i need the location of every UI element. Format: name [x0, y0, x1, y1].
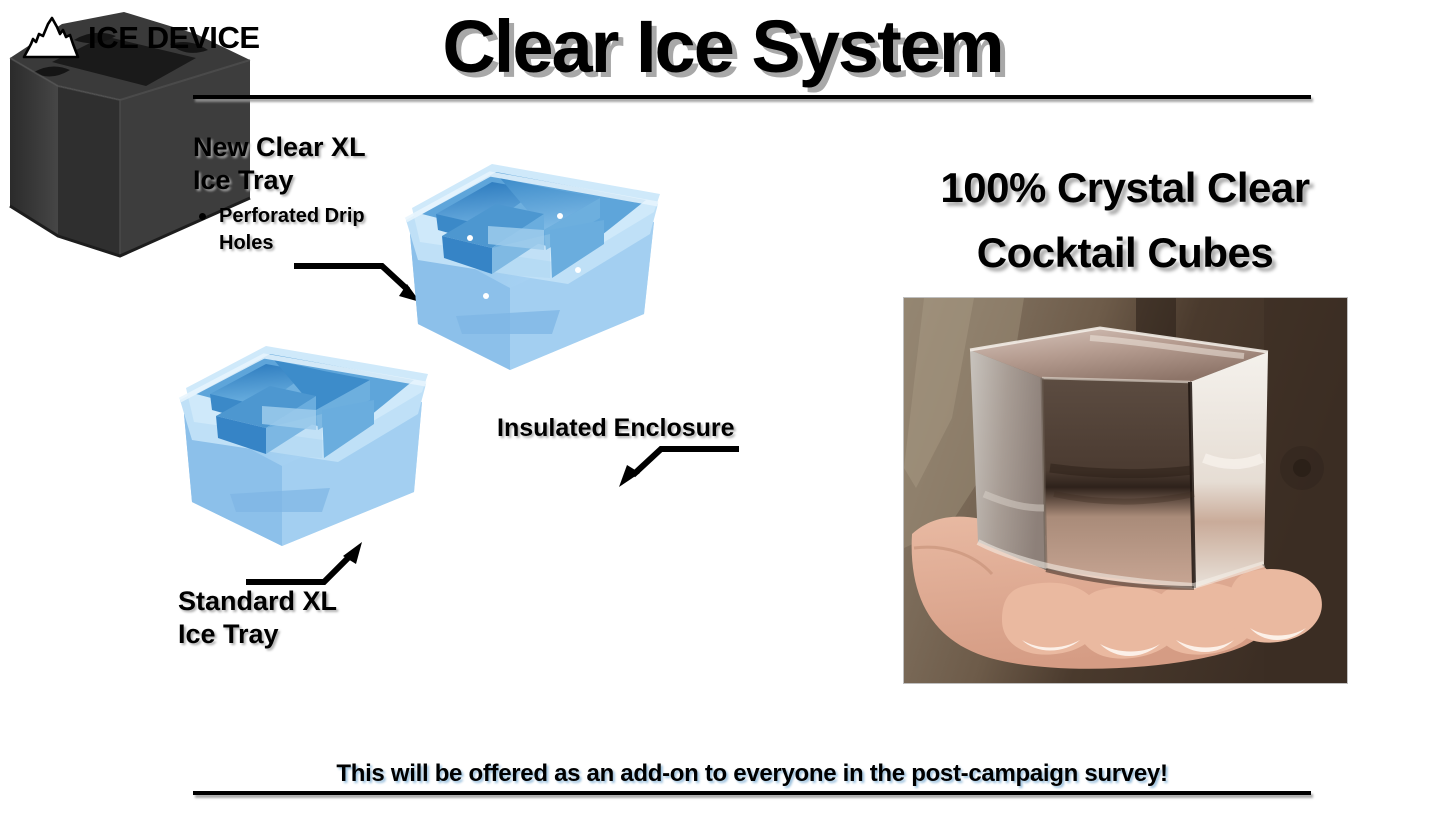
product-headline: 100% Crystal Clear Cocktail Cubes	[880, 155, 1370, 285]
page-title: Clear Ice System	[0, 8, 1445, 86]
drip-hole	[557, 213, 563, 219]
drip-hole	[467, 235, 473, 241]
headline-line2: Cocktail Cubes	[880, 220, 1370, 285]
headline-line1: 100% Crystal Clear	[880, 155, 1370, 220]
new-tray-feature-list: Perforated Drip Holes	[193, 203, 423, 257]
divider-bottom	[193, 791, 1311, 795]
new-tray-label-line1: New Clear XL	[193, 131, 423, 164]
new-tray-callout: New Clear XL Ice Tray Perforated Drip Ho…	[193, 131, 423, 257]
standard-tray-label-line2: Ice Tray	[178, 618, 408, 651]
footer-note: This will be offered as an add-on to eve…	[193, 760, 1311, 788]
standard-tray-label-line1: Standard XL	[178, 585, 408, 618]
new-tray-label-line2: Ice Tray	[193, 164, 423, 197]
drip-hole	[575, 267, 581, 273]
divider-top	[193, 95, 1311, 99]
clear-ice-cube-photo	[904, 298, 1347, 683]
list-item: Perforated Drip Holes	[193, 203, 423, 257]
standard-xl-ice-tray-image	[168, 322, 436, 562]
standard-tray-callout: Standard XL Ice Tray	[178, 585, 408, 651]
drip-hole	[483, 293, 489, 299]
arrow-down-left-icon	[605, 435, 745, 490]
